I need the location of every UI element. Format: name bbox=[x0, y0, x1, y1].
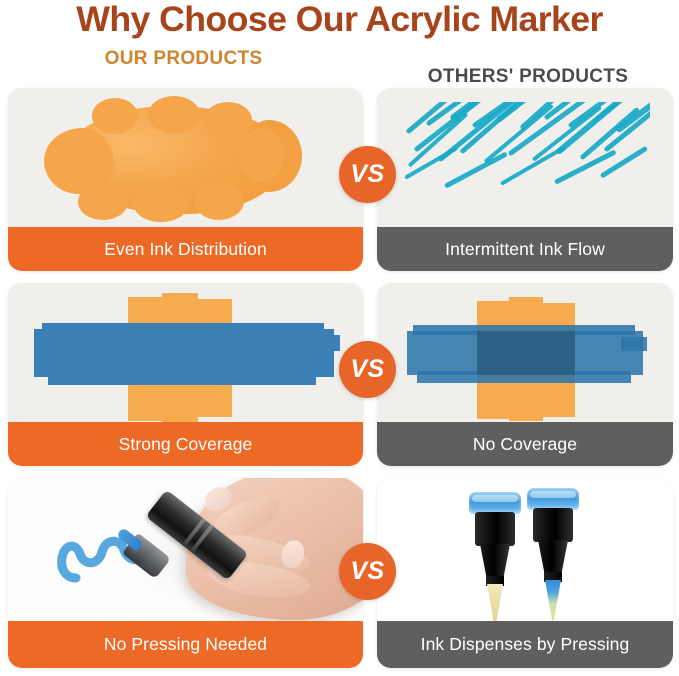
comparison-card-ours-3: No Pressing Needed bbox=[8, 478, 363, 668]
marker-barrel bbox=[533, 508, 573, 542]
marker-cap bbox=[527, 488, 579, 510]
comparison-card-others-3: Ink Dispenses by Pressing bbox=[377, 478, 673, 668]
blue-horizontal-stroke bbox=[304, 357, 332, 371]
nib-tip-dry bbox=[487, 584, 503, 621]
comparison-card-ours-2: Strong Coverage bbox=[8, 283, 363, 466]
coverage-demo-none bbox=[377, 283, 673, 422]
comparison-card-others-2: No Coverage bbox=[377, 283, 673, 466]
photo-two-marker-nibs bbox=[377, 478, 673, 621]
stroke-overlap-region bbox=[477, 331, 575, 375]
photo-hand-drawing-with-marker bbox=[8, 478, 363, 621]
card-label-intermittent-ink-flow: Intermittent Ink Flow bbox=[377, 227, 673, 271]
cap-highlight bbox=[472, 495, 518, 502]
vs-badge-row-3: VS bbox=[339, 543, 396, 600]
nib-tip-inked bbox=[545, 580, 561, 620]
marker-barrel bbox=[475, 512, 515, 546]
blob-bump bbox=[92, 98, 138, 134]
marker-cap bbox=[469, 492, 521, 514]
ink-swatch-teal-scribble bbox=[377, 88, 673, 227]
comparison-card-others-1: Intermittent Ink Flow bbox=[377, 88, 673, 271]
blue-horizontal-stroke bbox=[34, 329, 334, 377]
blob-bump bbox=[240, 128, 284, 182]
ink-swatch-orange-wash bbox=[8, 88, 363, 227]
blue-horizontal-stroke bbox=[42, 323, 324, 335]
blue-horizontal-stroke bbox=[308, 335, 340, 351]
coverage-demo-strong bbox=[8, 283, 363, 422]
coverage-stage bbox=[8, 283, 363, 422]
card-label-even-ink-distribution: Even Ink Distribution bbox=[8, 227, 363, 271]
comparison-card-ours-1: Even Ink Distribution bbox=[8, 88, 363, 271]
cap-highlight bbox=[530, 491, 576, 498]
blob-bump bbox=[204, 102, 252, 138]
blue-horizontal-stroke bbox=[48, 373, 316, 385]
teal-scribble-group bbox=[405, 102, 650, 214]
column-header-our-products: OUR PRODUCTS bbox=[0, 48, 367, 70]
vs-badge-row-1: VS bbox=[339, 146, 396, 203]
column-header-others-products: OTHERS' PRODUCTS bbox=[377, 66, 679, 88]
blob-bump bbox=[194, 182, 244, 220]
card-label-strong-coverage: Strong Coverage bbox=[8, 422, 363, 466]
card-label-no-pressing-needed: No Pressing Needed bbox=[8, 621, 363, 668]
coverage-stage bbox=[377, 283, 673, 422]
marker-taper bbox=[480, 544, 510, 578]
page-title: Why Choose Our Acrylic Marker bbox=[0, 0, 679, 40]
vs-badge-row-2: VS bbox=[339, 341, 396, 398]
marker-taper bbox=[538, 540, 568, 574]
blue-horizontal-stroke bbox=[621, 337, 647, 351]
blob-bump bbox=[134, 188, 188, 222]
card-label-no-coverage: No Coverage bbox=[377, 422, 673, 466]
blob-bump bbox=[148, 96, 200, 134]
blob-bump bbox=[78, 184, 128, 220]
photo-backdrop bbox=[377, 478, 673, 621]
photo-backdrop bbox=[8, 478, 363, 621]
card-label-ink-dispenses-by-pressing: Ink Dispenses by Pressing bbox=[377, 621, 673, 668]
